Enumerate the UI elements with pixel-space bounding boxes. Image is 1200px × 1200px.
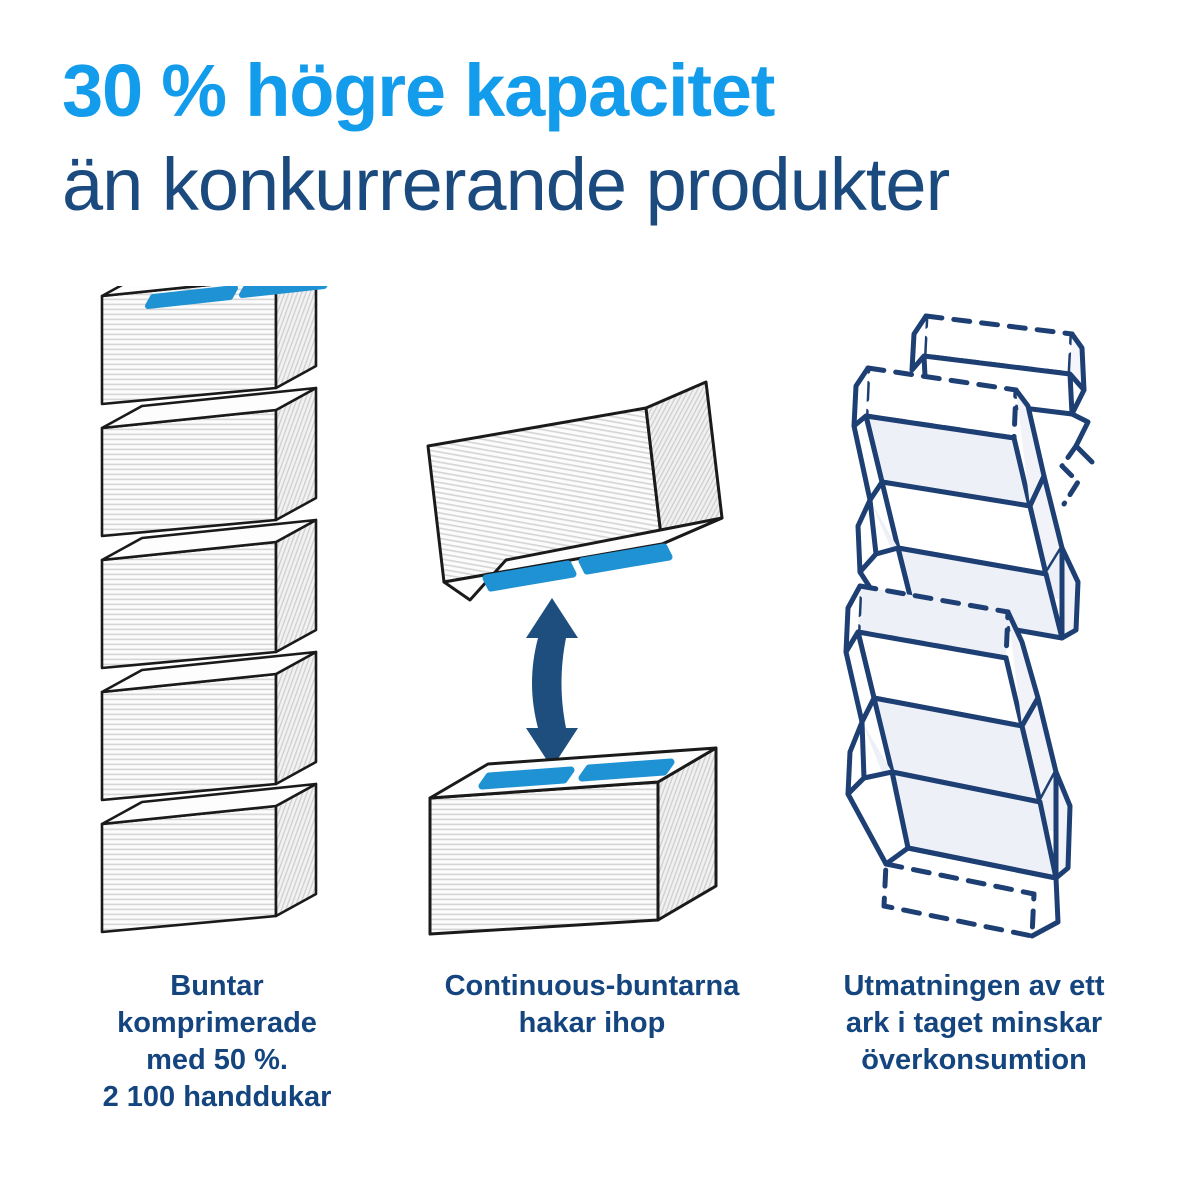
bundle-4 [102,652,316,800]
illustration-accordion-fold [820,286,1160,946]
caption-line: med 50 %. [52,1042,382,1079]
caption-line: komprimerade [52,1005,382,1042]
caption-line: ark i taget minskar [798,1005,1150,1042]
stacked-bundles-graphic [80,286,380,946]
bundle-top-inverted [428,382,722,600]
caption-single-sheet: Utmatningen av ett ark i taget minskar ö… [798,968,1150,1079]
bundle-3 [102,520,316,668]
bundle-1-with-bands [102,286,329,404]
caption-line: 2 100 handdukar [52,1079,382,1116]
blue-band-bottom-left [482,770,571,786]
caption-line: Continuous-buntarna [402,968,782,1005]
blue-band-bottom-right [582,762,671,778]
interlocking-bundles-graphic [410,286,780,946]
caption-line: överkonsumtion [798,1042,1150,1079]
headline-line-1: 30 % högre kapacitet [62,44,1162,138]
illustration-stacked-bundles [80,286,380,946]
caption-line: hakar ihop [402,1005,782,1042]
promo-page: 30 % högre kapacitet än konkurrerande pr… [0,0,1200,1200]
caption-bundles-interlock: Continuous-buntarna hakar ihop [402,968,782,1042]
illustration-interlocking-bundles [410,286,780,946]
double-headed-arrow-icon [526,598,578,768]
accordion-fold-graphic [820,286,1160,946]
headline-line-2: än konkurrerande produkter [62,138,1162,232]
caption-bundles-compressed: Buntar komprimerade med 50 %. 2 100 hand… [52,968,382,1116]
bundle-2 [102,388,316,536]
caption-line: Utmatningen av ett [798,968,1150,1005]
bundle-bottom [430,748,716,934]
caption-line: Buntar [52,968,382,1005]
illustration-row [0,286,1200,946]
page-title: 30 % högre kapacitet än konkurrerande pr… [62,44,1162,232]
caption-row: Buntar komprimerade med 50 %. 2 100 hand… [0,968,1200,1168]
bundle-5 [102,784,316,932]
